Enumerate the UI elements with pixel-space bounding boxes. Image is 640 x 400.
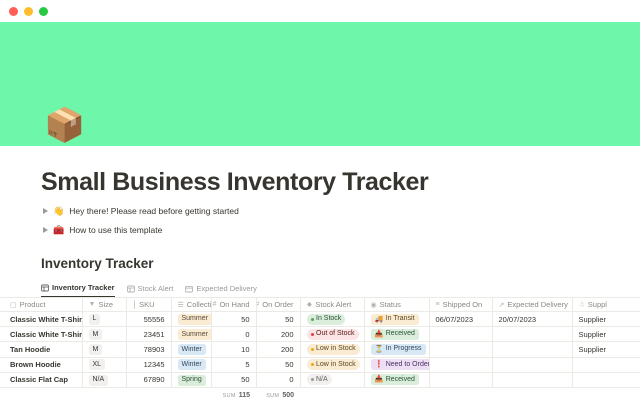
status-dot-icon bbox=[311, 318, 314, 321]
cell-supplier[interactable]: Supplier bbox=[572, 342, 640, 357]
stock-alert-badge: Low in Stock bbox=[307, 359, 360, 370]
collection-pill: Spring bbox=[178, 375, 206, 386]
column-header-collection[interactable]: ☰ Collecti… bbox=[171, 298, 211, 312]
cell-status[interactable]: ⏳In Progress bbox=[364, 342, 429, 357]
cell-product[interactable]: Tan Hoodie bbox=[0, 342, 82, 357]
toggle-block-howto[interactable]: 🧰 How to use this template bbox=[41, 225, 600, 235]
inventory-table: ▢ Product ▼ Size ⎮ SKU ☰ Collecti… # On … bbox=[0, 297, 640, 388]
cell-shipped-on[interactable] bbox=[429, 327, 492, 342]
cell-status[interactable]: ❗Need to Order bbox=[364, 357, 429, 372]
cell-shipped-on[interactable] bbox=[429, 372, 492, 387]
cell-expected-delivery[interactable]: 20/07/2023 bbox=[492, 312, 572, 327]
table-row[interactable]: Tan HoodieM78903Winter10200Low in Stock⏳… bbox=[0, 342, 640, 357]
column-label: Stock Alert bbox=[315, 300, 351, 309]
column-header-shipped-on[interactable]: ≡ Shipped On bbox=[429, 298, 492, 312]
cell-status[interactable]: 🚚In Transit bbox=[364, 312, 429, 327]
table-icon bbox=[127, 285, 135, 293]
tab-label: Expected Delivery bbox=[196, 284, 256, 293]
cell-expected-delivery[interactable] bbox=[492, 372, 572, 387]
collection-pill: Summer bbox=[178, 329, 212, 340]
cell-stock-alert[interactable]: In Stock bbox=[300, 312, 364, 327]
cell-shipped-on[interactable]: 06/07/2023 bbox=[429, 312, 492, 327]
toolbox-icon: 🧰 bbox=[53, 226, 64, 235]
cell-collection[interactable]: Winter bbox=[171, 357, 211, 372]
status-dot-icon bbox=[311, 363, 314, 366]
title-icon: ▢ bbox=[10, 301, 17, 309]
column-label: On Hand bbox=[219, 300, 249, 309]
cell-size[interactable]: M bbox=[82, 327, 126, 342]
cell-stock-alert[interactable]: N/A bbox=[300, 372, 364, 387]
cell-size[interactable]: L bbox=[82, 312, 126, 327]
cell-collection[interactable]: Winter bbox=[171, 342, 211, 357]
window-titlebar bbox=[0, 0, 640, 22]
cell-on-hand[interactable]: 0 bbox=[211, 327, 256, 342]
cell-supplier[interactable] bbox=[572, 372, 640, 387]
size-pill: XL bbox=[89, 359, 106, 370]
status-badge: ❗Need to Order bbox=[371, 359, 430, 370]
number-icon: ⎮ bbox=[133, 301, 137, 309]
stock-alert-badge: In Stock bbox=[307, 314, 346, 325]
table-row[interactable]: Classic White T-ShirtM23451Summer0200Out… bbox=[0, 327, 640, 342]
table-summary-row: SUM115 SUM500 bbox=[0, 388, 640, 400]
status-badge: 🚚In Transit bbox=[371, 314, 419, 325]
table-body: Classic White T-ShirtL55556Summer5050In … bbox=[0, 312, 640, 388]
status-dot-icon bbox=[311, 333, 314, 336]
status-emoji-icon: ⏳ bbox=[375, 346, 384, 353]
cell-on-order[interactable]: 200 bbox=[256, 327, 300, 342]
column-label: Expected Delivery bbox=[507, 300, 567, 309]
formula-icon: ✸ bbox=[307, 301, 313, 309]
size-pill: M bbox=[89, 344, 103, 355]
column-header-expected-delivery[interactable]: ↗ Expected Delivery bbox=[492, 298, 572, 312]
summary-label: SUM bbox=[266, 393, 279, 399]
cell-on-order[interactable]: 50 bbox=[256, 312, 300, 327]
column-label: Shipped On bbox=[443, 300, 483, 309]
select-icon: ▼ bbox=[89, 301, 96, 308]
column-header-sku[interactable]: ⎮ SKU bbox=[126, 298, 171, 312]
cell-expected-delivery[interactable] bbox=[492, 327, 572, 342]
cell-size[interactable]: N/A bbox=[82, 372, 126, 387]
status-emoji-icon: 📥 bbox=[375, 331, 384, 338]
cell-expected-delivery[interactable] bbox=[492, 357, 572, 372]
column-label: Product bbox=[20, 300, 46, 309]
cell-supplier[interactable]: Supplier bbox=[572, 327, 640, 342]
table-row[interactable]: Brown HoodieXL12345Winter550Low in Stock… bbox=[0, 357, 640, 372]
close-button[interactable] bbox=[9, 7, 18, 16]
cell-collection[interactable]: Summer bbox=[171, 312, 211, 327]
status-emoji-icon: 📥 bbox=[375, 376, 384, 383]
table-row[interactable]: Classic Flat CapN/A67890Spring500N/A📥Rec… bbox=[0, 372, 640, 387]
table-header: ▢ Product ▼ Size ⎮ SKU ☰ Collecti… # On … bbox=[0, 298, 640, 312]
table-header-row: ▢ Product ▼ Size ⎮ SKU ☰ Collecti… # On … bbox=[0, 298, 640, 312]
cell-supplier[interactable]: Supplier bbox=[572, 312, 640, 327]
tab-label: Inventory Tracker bbox=[52, 283, 115, 292]
collection-pill: Winter bbox=[178, 344, 206, 355]
status-badge: 📥Received bbox=[371, 329, 419, 340]
cell-supplier[interactable] bbox=[572, 357, 640, 372]
column-label: On Order bbox=[262, 300, 293, 309]
cell-collection[interactable]: Summer bbox=[171, 327, 211, 342]
cell-collection[interactable]: Spring bbox=[171, 372, 211, 387]
formula-icon: ↗ bbox=[499, 301, 505, 309]
cell-status[interactable]: 📥Received bbox=[364, 372, 429, 387]
database-view-tabs: Inventory Tracker Stock Alert Expected D… bbox=[41, 280, 600, 297]
status-icon: ◉ bbox=[371, 301, 377, 309]
cell-product[interactable]: Classic White T-Shirt bbox=[0, 312, 82, 327]
toggle-block-welcome[interactable]: 👋 Hey there! Please read before getting … bbox=[41, 206, 600, 216]
cell-on-hand[interactable]: 50 bbox=[211, 372, 256, 387]
size-pill: L bbox=[89, 314, 101, 325]
date-icon: ≡ bbox=[436, 301, 440, 308]
toggle-label: Hey there! Please read before getting st… bbox=[69, 206, 239, 216]
hash-icon: # bbox=[256, 301, 259, 308]
inventory-table-wrapper[interactable]: ▢ Product ▼ Size ⎮ SKU ☰ Collecti… # On … bbox=[0, 297, 640, 400]
toggle-label: How to use this template bbox=[69, 225, 162, 235]
cell-on-hand[interactable]: 10 bbox=[211, 342, 256, 357]
summary-value: 500 bbox=[282, 392, 294, 399]
summary-value: 115 bbox=[239, 392, 250, 399]
cell-on-order[interactable]: 0 bbox=[256, 372, 300, 387]
person-icon: ☃ bbox=[579, 301, 585, 309]
page-content: Small Business Inventory Tracker 👋 Hey t… bbox=[0, 168, 640, 297]
minimize-button[interactable] bbox=[24, 7, 33, 16]
cell-sku[interactable]: 23451 bbox=[126, 327, 171, 342]
table-icon bbox=[41, 284, 49, 292]
tab-stock-alert[interactable]: Stock Alert bbox=[127, 284, 174, 297]
calendar-icon bbox=[185, 285, 193, 293]
chevron-right-icon[interactable] bbox=[43, 227, 48, 233]
tab-expected-delivery[interactable]: Expected Delivery bbox=[185, 284, 256, 297]
summary-label: SUM bbox=[223, 393, 236, 399]
cell-product[interactable]: Classic White T-Shirt bbox=[0, 327, 82, 342]
stock-alert-badge: N/A bbox=[307, 374, 332, 385]
cell-stock-alert[interactable]: Low in Stock bbox=[300, 342, 364, 357]
cell-sku[interactable]: 78903 bbox=[126, 342, 171, 357]
app-window: 📦 Small Business Inventory Tracker 👋 Hey… bbox=[0, 0, 640, 400]
collection-pill: Summer bbox=[178, 314, 212, 325]
column-header-on-hand[interactable]: # On Hand bbox=[211, 298, 256, 312]
column-label: Status bbox=[380, 300, 401, 309]
status-emoji-icon: 🚚 bbox=[375, 316, 384, 323]
status-dot-icon bbox=[311, 378, 314, 381]
table-row[interactable]: Classic White T-ShirtL55556Summer5050In … bbox=[0, 312, 640, 327]
hash-icon: # bbox=[213, 301, 217, 308]
cell-shipped-on[interactable] bbox=[429, 342, 492, 357]
cell-on-order[interactable]: 50 bbox=[256, 357, 300, 372]
cell-sku[interactable]: 12345 bbox=[126, 357, 171, 372]
cell-size[interactable]: M bbox=[82, 342, 126, 357]
column-label: Collecti… bbox=[187, 300, 211, 309]
chevron-right-icon[interactable] bbox=[43, 208, 48, 214]
cell-on-hand[interactable]: 5 bbox=[211, 357, 256, 372]
column-label: Suppl bbox=[588, 300, 607, 309]
cell-product[interactable]: Brown Hoodie bbox=[0, 357, 82, 372]
database-title: Inventory Tracker bbox=[41, 256, 600, 271]
select-icon: ☰ bbox=[178, 301, 184, 309]
cell-expected-delivery[interactable] bbox=[492, 342, 572, 357]
column-header-size[interactable]: ▼ Size bbox=[82, 298, 126, 312]
status-dot-icon bbox=[311, 348, 314, 351]
size-pill: M bbox=[89, 329, 103, 340]
column-header-on-order[interactable]: # On Order bbox=[256, 298, 300, 312]
cell-stock-alert[interactable]: Low in Stock bbox=[300, 357, 364, 372]
cell-on-order[interactable]: 200 bbox=[256, 342, 300, 357]
stock-alert-badge: Out of Stock bbox=[307, 329, 359, 340]
stock-alert-badge: Low in Stock bbox=[307, 344, 360, 355]
cell-stock-alert[interactable]: Out of Stock bbox=[300, 327, 364, 342]
status-badge: ⏳In Progress bbox=[371, 344, 426, 355]
column-label: SKU bbox=[139, 300, 154, 309]
collection-pill: Winter bbox=[178, 359, 206, 370]
maximize-button[interactable] bbox=[39, 7, 48, 16]
status-badge: 📥Received bbox=[371, 374, 419, 385]
page-cover[interactable] bbox=[0, 22, 640, 146]
summary-on-order[interactable]: SUM500 bbox=[256, 392, 300, 399]
page-icon[interactable]: 📦 bbox=[44, 106, 85, 144]
page-title: Small Business Inventory Tracker bbox=[41, 168, 600, 197]
cell-on-hand[interactable]: 50 bbox=[211, 312, 256, 327]
column-header-supplier[interactable]: ☃ Suppl bbox=[572, 298, 640, 312]
summary-on-hand[interactable]: SUM115 bbox=[211, 392, 256, 399]
cell-product[interactable]: Classic Flat Cap bbox=[0, 372, 82, 387]
status-emoji-icon: ❗ bbox=[375, 361, 384, 368]
wave-icon: 👋 bbox=[53, 207, 64, 216]
column-header-product[interactable]: ▢ Product bbox=[0, 298, 82, 312]
cell-status[interactable]: 📥Received bbox=[364, 327, 429, 342]
cell-shipped-on[interactable] bbox=[429, 357, 492, 372]
cell-sku[interactable]: 55556 bbox=[126, 312, 171, 327]
column-header-status[interactable]: ◉ Status bbox=[364, 298, 429, 312]
column-label: Size bbox=[98, 300, 113, 309]
cell-sku[interactable]: 67890 bbox=[126, 372, 171, 387]
cell-size[interactable]: XL bbox=[82, 357, 126, 372]
tab-inventory-tracker[interactable]: Inventory Tracker bbox=[41, 283, 115, 297]
tab-label: Stock Alert bbox=[138, 284, 174, 293]
column-header-stock-alert[interactable]: ✸ Stock Alert bbox=[300, 298, 364, 312]
size-pill: N/A bbox=[89, 375, 109, 386]
